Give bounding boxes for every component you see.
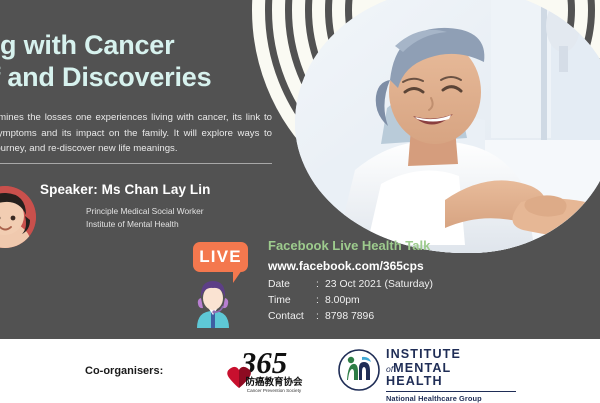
headset-presenter-icon	[190, 276, 236, 328]
table-row: Date : 23 Oct 2021 (Saturday)	[268, 277, 433, 293]
imh-subtitle: National Healthcare Group	[386, 394, 518, 403]
event-details-table: Date : 23 Oct 2021 (Saturday) Time : 8.0…	[268, 277, 433, 324]
event-label-contact: Contact	[268, 309, 316, 325]
event-sep-contact: :	[316, 309, 325, 325]
imh-line-2: MENTAL	[393, 361, 451, 375]
event-value-date: 23 Oct 2021 (Saturday)	[325, 277, 433, 293]
365-cancer-prevention-society-logo: 365 防癌教育协会 Cancer Prevention Society	[216, 345, 312, 397]
section-divider	[0, 163, 272, 164]
co-organisers-label: Co-organisers:	[85, 365, 163, 377]
avatar	[0, 186, 36, 248]
event-value-contact: 8798 7896	[325, 309, 433, 325]
event-sep-time: :	[316, 293, 325, 309]
event-label-date: Date	[268, 277, 316, 293]
institute-of-mental-health-logo: INSTITUTE ofMENTAL HEALTH National Healt…	[338, 348, 518, 394]
table-row: Time : 8.00pm	[268, 293, 433, 309]
title-line-1: Topic:	[0, 4, 278, 28]
page-title: Topic: Living with Cancer Grief and Disc…	[0, 4, 278, 93]
live-badge: LIVE	[193, 242, 248, 272]
facebook-url[interactable]: www.facebook.com/365cps	[268, 259, 424, 273]
patient-photo	[295, 0, 600, 253]
imh-line-1: INSTITUTE	[386, 348, 518, 362]
health-talk-poster: Topic: Living with Cancer Grief and Disc…	[0, 0, 600, 403]
table-row: Contact : 8798 7896	[268, 309, 433, 325]
speaker-role-line-2: Institute of Mental Health	[86, 218, 204, 231]
event-label-time: Time	[268, 293, 316, 309]
facebook-live-heading: Facebook Live Health Talk	[268, 238, 430, 253]
speaker-name: Speaker: Ms Chan Lay Lin	[40, 182, 210, 197]
imh-line-3: HEALTH	[386, 375, 518, 389]
imh-line-2-row: ofMENTAL	[386, 362, 518, 376]
speaker-role-line-1: Principle Medical Social Worker	[86, 205, 204, 218]
live-badge-label: LIVE	[199, 247, 242, 267]
svg-text:Cancer Prevention Society: Cancer Prevention Society	[247, 388, 302, 393]
svg-text:防癌教育协会: 防癌教育协会	[245, 376, 303, 388]
title-line-2: Living with Cancer	[0, 30, 278, 61]
imh-wordmark: INSTITUTE ofMENTAL HEALTH National Healt…	[386, 348, 518, 403]
description-text: This talk examines the losses one experi…	[0, 110, 272, 157]
imh-divider	[386, 391, 516, 392]
imh-monogram-icon	[338, 349, 380, 391]
title-line-3: Grief and Discoveries	[0, 62, 278, 93]
event-sep-date: :	[316, 277, 325, 293]
event-value-time: 8.00pm	[325, 293, 433, 309]
speaker-role: Principle Medical Social Worker Institut…	[86, 205, 204, 232]
